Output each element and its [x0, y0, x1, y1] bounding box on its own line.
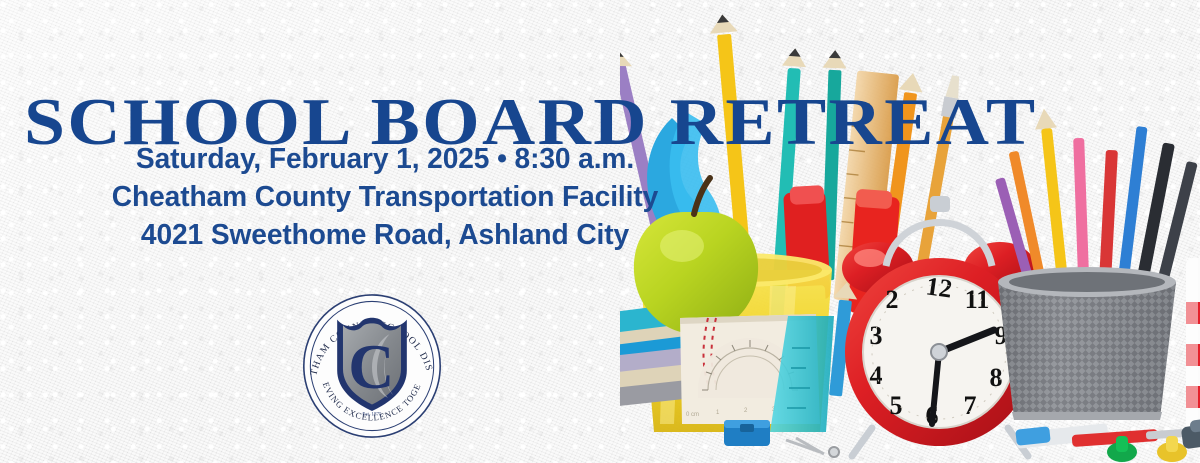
svg-text:2: 2	[886, 285, 899, 314]
glue-stick	[1186, 258, 1200, 438]
event-date-time: Saturday, February 1, 2025 • 8:30 a.m.	[12, 140, 759, 178]
event-address: 4021 Sweethome Road, Ashland City	[12, 216, 759, 254]
seal-monogram: C	[348, 331, 394, 402]
svg-text:0 cm: 0 cm	[686, 412, 699, 418]
svg-text:3: 3	[870, 321, 883, 350]
svg-text:7: 7	[964, 391, 977, 420]
seal-established: Est. 1875	[362, 411, 382, 417]
event-details: Saturday, February 1, 2025 • 8:30 a.m. C…	[0, 140, 770, 254]
svg-text:12: 12	[924, 271, 954, 303]
sharpener-blue	[724, 420, 770, 446]
svg-text:5: 5	[890, 391, 903, 420]
event-venue: Cheatham County Transportation Facility	[12, 178, 759, 216]
svg-text:11: 11	[965, 285, 990, 314]
compass	[786, 438, 839, 457]
cheatham-county-school-district-seal: CHEATHAM COUNTY SCHOOL DISTRICT ACHIEVIN…	[299, 292, 445, 440]
svg-text:4: 4	[870, 361, 883, 390]
school-board-retreat-banner: 0 cm 1 2 3	[0, 0, 1200, 463]
